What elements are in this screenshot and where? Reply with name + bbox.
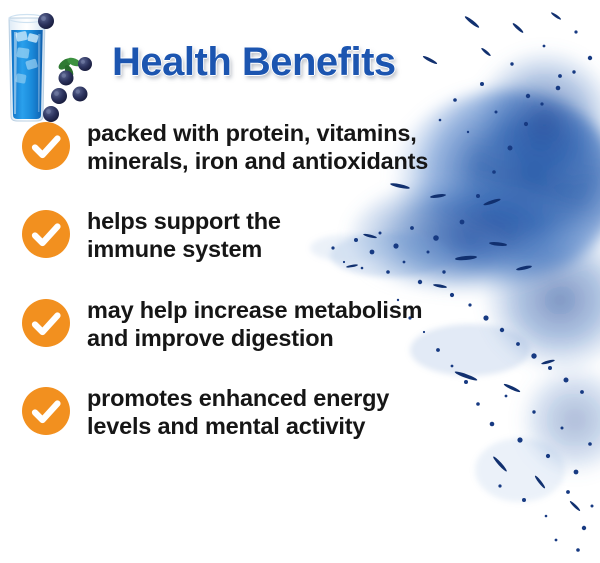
drink-glass-svg	[2, 8, 110, 126]
list-item: packed with protein, vitamins, minerals,…	[22, 120, 522, 175]
list-item: helps support the immune system	[22, 208, 522, 263]
page-title: Health Benefits	[112, 40, 396, 85]
list-item: may help increase metabolism and improve…	[22, 297, 522, 352]
glass-body	[9, 15, 45, 122]
list-item-label: promotes enhanced energy levels and ment…	[87, 385, 522, 440]
check-circle-icon	[22, 122, 70, 170]
list-item: promotes enhanced energy levels and ment…	[22, 385, 522, 440]
list-item-label: helps support the immune system	[87, 208, 522, 263]
list-item-label: packed with protein, vitamins, minerals,…	[87, 120, 522, 175]
check-circle-icon	[22, 210, 70, 258]
drink-glass-artwork	[2, 8, 110, 126]
check-circle-icon	[22, 387, 70, 435]
check-circle-icon	[22, 299, 70, 347]
health-benefits-poster: Health Benefits packed with protein, vit…	[0, 0, 600, 563]
list-item-label: may help increase metabolism and improve…	[87, 297, 522, 352]
benefits-list: packed with protein, vitamins, minerals,…	[22, 120, 522, 474]
